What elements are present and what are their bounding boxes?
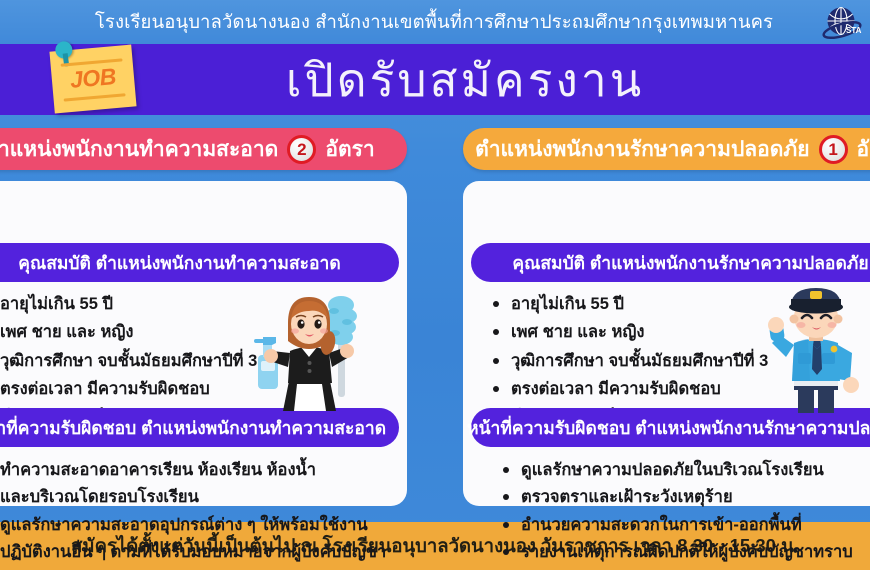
list-item: ตรงต่อเวลา มีความรับผิดชอบ xyxy=(0,378,380,400)
position-badge-security: ตำแหน่งพนักงานรักษาความปลอดภัย 1 อัตรา xyxy=(463,128,870,170)
list-item: ตรวจตราและเฝ้าระวังเหตุร้าย xyxy=(501,486,870,508)
list-item: ตรงต่อเวลา มีความรับผิดชอบ xyxy=(491,378,870,400)
globe-icon: STA xyxy=(816,2,864,46)
responsibilities-heading-cleaner: หน้าที่ความรับผิดชอบ ตำแหน่งพนักงานทำควา… xyxy=(0,408,399,447)
responsibilities-heading-security: หน้าที่ความรับผิดชอบ ตำแหน่งพนักงานรักษา… xyxy=(471,408,870,447)
position-badge-cleaner: ตำแหน่งพนักงานทำความสะอาด 2 อัตรา xyxy=(0,128,407,170)
position-unit-label: อัตรา xyxy=(857,133,870,166)
position-count-badge: 1 xyxy=(819,135,848,164)
position-column-security: ตำแหน่งพนักงานรักษาความปลอดภัย 1 อัตรา xyxy=(463,115,870,525)
page-header: โรงเรียนอนุบาลวัดนางนอง สำนักงานเขตพื้นท… xyxy=(0,0,870,44)
position-unit-label: อัตรา xyxy=(325,133,374,166)
list-item: วุฒิการศึกษา จบชั้นมัธยมศึกษาปีที่ 3 xyxy=(491,350,870,372)
qualifications-heading-security: คุณสมบัติ ตำแหน่งพนักงานรักษาความปลอดภัย xyxy=(471,243,870,282)
position-badge-label: ตำแหน่งพนักงานทำความสะอาด xyxy=(0,133,278,166)
list-item: ดูแลรักษาความปลอดภัยในบริเวณโรงเรียน xyxy=(501,459,870,481)
sticky-note-line xyxy=(64,93,126,101)
section-heading-text: คุณสมบัติ ตำแหน่งพนักงานรักษาความปลอดภัย xyxy=(512,249,868,277)
list-item: อำนวยความสะดวกในการเข้า-ออกพื้นที่ xyxy=(501,514,870,536)
organization-name: โรงเรียนอนุบาลวัดนางนอง สำนักงานเขตพื้นท… xyxy=(0,8,870,37)
list-item: และบริเวณโดยรอบโรงเรียน xyxy=(0,486,380,508)
svg-text:STA: STA xyxy=(846,26,862,35)
position-card-cleaner: คุณสมบัติ ตำแหน่งพนักงานทำความสะอาด อายุ… xyxy=(0,181,407,506)
list-item: ดูแลรักษาความสะอาดอุปกรณ์ต่าง ๆ ให้พร้อม… xyxy=(0,514,380,536)
responsibilities-list-security: ดูแลรักษาความปลอดภัยในบริเวณโรงเรียน ตรว… xyxy=(501,459,870,568)
positions-container: ตำแหน่งพนักงานทำความสะอาด 2 อัตรา xyxy=(0,115,870,525)
job-sticky-note: JOB xyxy=(49,45,136,114)
list-item: อายุไม่เกิน 55 ปี xyxy=(0,293,380,315)
position-card-security: คุณสมบัติ ตำแหน่งพนักงานรักษาความปลอดภัย… xyxy=(463,181,870,506)
job-announcement-poster: โรงเรียนอนุบาลวัดนางนอง สำนักงานเขตพื้นท… xyxy=(0,0,870,570)
position-badge-label: ตำแหน่งพนักงานรักษาความปลอดภัย xyxy=(475,133,809,166)
responsibilities-list-cleaner: ทำความสะอาดอาคารเรียน ห้องเรียน ห้องน้ำ … xyxy=(0,459,380,568)
list-item: เพศ ชาย และ หญิง xyxy=(0,321,380,343)
list-item: วุฒิการศึกษา จบชั้นมัธยมศึกษาปีที่ 3 xyxy=(0,350,380,372)
list-item: ปฏิบัติงานอื่น ๆ ตามที่ได้รับมอบหมายจากผ… xyxy=(0,541,380,563)
position-column-cleaner: ตำแหน่งพนักงานทำความสะอาด 2 อัตรา xyxy=(0,115,407,525)
position-count-badge: 2 xyxy=(287,135,316,164)
section-heading-text: หน้าที่ความรับผิดชอบ ตำแหน่งพนักงานทำควา… xyxy=(0,414,386,442)
list-item: ทำความสะอาดอาคารเรียน ห้องเรียน ห้องน้ำ xyxy=(0,459,380,481)
list-item: อายุไม่เกิน 55 ปี xyxy=(491,293,870,315)
list-item: รายงานเหตุการณ์ผิดปกติให้ผู้บังคับบัญชาท… xyxy=(501,541,870,563)
section-heading-text: คุณสมบัติ ตำแหน่งพนักงานทำความสะอาด xyxy=(18,249,340,277)
qualifications-heading-cleaner: คุณสมบัติ ตำแหน่งพนักงานทำความสะอาด xyxy=(0,243,399,282)
sticky-note-label: JOB xyxy=(51,61,135,95)
section-heading-text: หน้าที่ความรับผิดชอบ ตำแหน่งพนักงานรักษา… xyxy=(467,414,870,442)
list-item: เพศ ชาย และ หญิง xyxy=(491,321,870,343)
page-title: เปิดรับสมัครงาน xyxy=(286,57,644,103)
